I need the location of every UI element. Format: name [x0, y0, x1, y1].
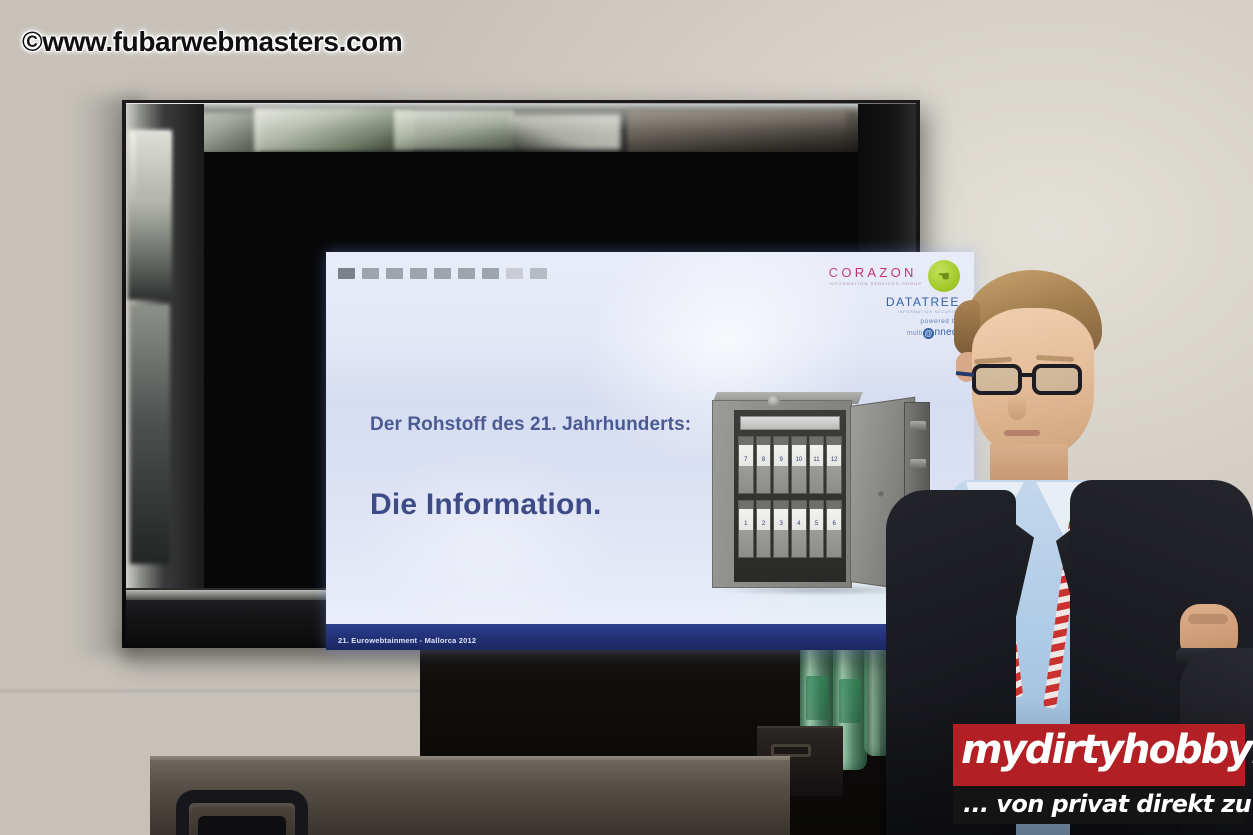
eyeglasses-icon: [968, 364, 1100, 398]
watermark-top-left: ©www.fubarwebmasters.com: [22, 26, 402, 58]
bezel-reflection: [626, 110, 856, 152]
wall-mounted-tv: melia.com CORAZON INFORMATION SERVIC: [122, 100, 920, 648]
binder-number: 9: [774, 457, 788, 463]
bottle-label: [839, 679, 861, 723]
binder: 2: [756, 500, 772, 558]
binder: 7: [738, 436, 754, 494]
binder: 1: [738, 500, 754, 558]
safe-shelf-label: [740, 416, 840, 430]
watermark-tagline-text: ... von privat direkt zu Dir!: [963, 790, 1253, 818]
binder-number: 6: [827, 521, 841, 527]
presentation-slide: CORAZON INFORMATION SERVICES GROUP ☚ DAT…: [326, 252, 974, 650]
watermark-brand-box: mydirtyhobby.com: [953, 724, 1245, 786]
binder-number: 2: [757, 521, 771, 527]
watermark-bottom-right: mydirtyhobby.com ... von privat direkt z…: [945, 715, 1253, 835]
binder-number: 1: [739, 521, 753, 527]
presenter-mouth: [1004, 430, 1040, 436]
binder: 12: [826, 436, 842, 494]
binder-number: 8: [757, 457, 771, 463]
slide-lead-text: Der Rohstoff des 21. Jahrhunderts:: [370, 412, 700, 437]
dash-square: [434, 268, 451, 279]
screen-glare: [356, 452, 616, 632]
slide-decor-dashes: [338, 268, 547, 279]
dash-square: [362, 268, 379, 279]
glasses-bridge: [1022, 373, 1034, 377]
dash-square: [458, 268, 475, 279]
bezel-reflection: [511, 114, 621, 150]
dash-square: [410, 268, 427, 279]
binder-number: 5: [810, 521, 824, 527]
dash-square: [506, 268, 523, 279]
tv-bezel-left: [126, 104, 204, 590]
slide-footer-event: 21. Eurowebtainment - Mallorca 2012: [338, 636, 476, 645]
presenter-nose: [1008, 396, 1026, 420]
binder: 6: [826, 500, 842, 558]
binder-row-bottom: 1 2 3 4 5 6: [738, 500, 842, 558]
binder-number: 12: [827, 457, 841, 463]
dash-square: [482, 268, 499, 279]
dash-square: [386, 268, 403, 279]
dash-square: [530, 268, 547, 279]
bezel-reflection: [394, 110, 514, 150]
chair-backrest: [176, 790, 308, 835]
chair-seatback: [198, 816, 286, 835]
binder: 10: [791, 436, 807, 494]
binder: 5: [809, 500, 825, 558]
watermark-tagline-box: ... von privat direkt zu Dir!: [953, 786, 1245, 824]
watermark-brand-name: mydirtyhobby: [961, 727, 1251, 773]
glasses-lens: [1032, 364, 1082, 395]
binder: 8: [756, 436, 772, 494]
bezel-reflection: [130, 304, 170, 564]
bottle-label: [806, 676, 828, 720]
bezel-reflection: [254, 108, 414, 152]
glasses-lens: [972, 364, 1022, 395]
binder-number: 10: [792, 457, 806, 463]
binder-number: 4: [792, 521, 806, 527]
binder: 9: [773, 436, 789, 494]
binder: 11: [809, 436, 825, 494]
binder-number: 3: [774, 521, 788, 527]
slide-headline: Die Information.: [370, 488, 730, 522]
slide-footer-band: 21. Eurowebtainment - Mallorca 2012 25.0…: [326, 624, 974, 650]
tv-bezel-top: [126, 104, 916, 152]
binder-number: 11: [810, 457, 824, 463]
photo-scene: melia.com CORAZON INFORMATION SERVIC: [0, 0, 1253, 835]
binder: 3: [773, 500, 789, 558]
watermark-brand-text: mydirtyhobby.com: [961, 730, 1243, 770]
dash-square: [338, 268, 355, 279]
bezel-reflection: [136, 132, 170, 198]
binder-row-top: 7 8 9 10 11 12: [738, 436, 842, 494]
binder-number: 7: [739, 457, 753, 463]
binder: 4: [791, 500, 807, 558]
presenter-knuckles: [1188, 614, 1228, 624]
safe-lock-knob: [768, 396, 780, 406]
